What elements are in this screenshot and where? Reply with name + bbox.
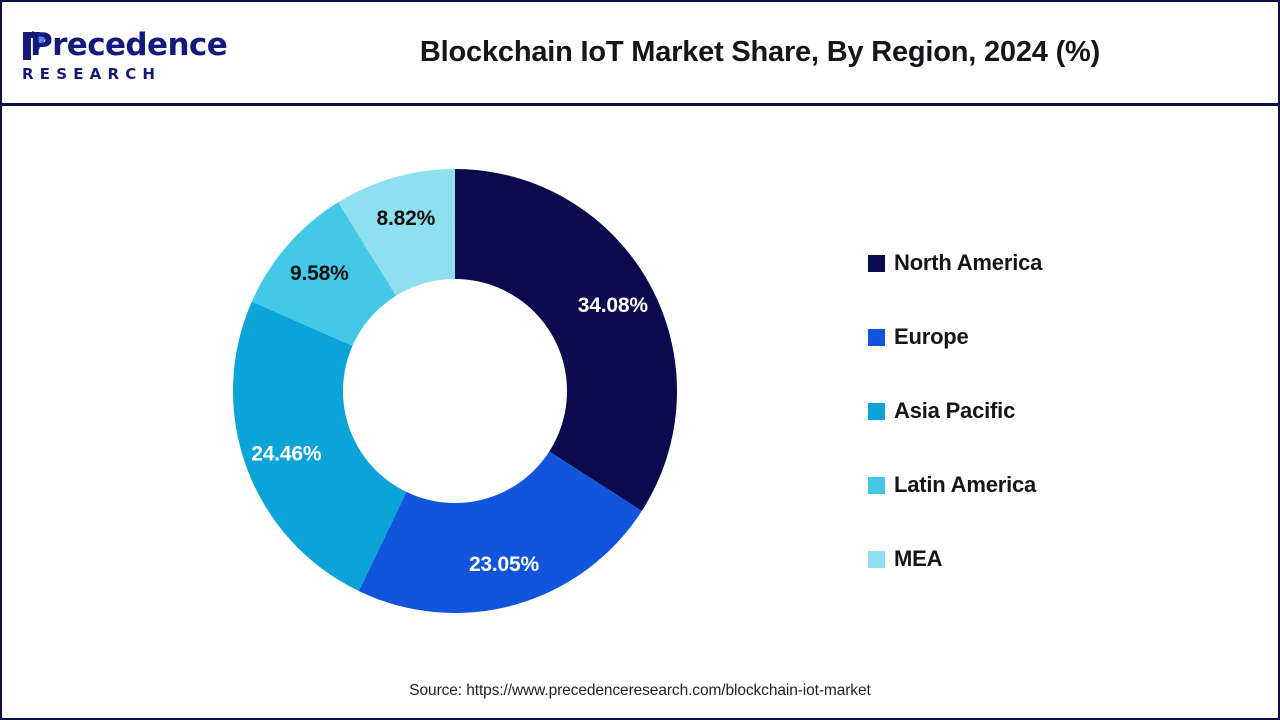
chart-body: 34.08%23.05%24.46%9.58%8.82% North Ameri… (2, 106, 1278, 718)
legend-item-label: Asia Pacific (894, 398, 1015, 424)
legend-item-label: North America (894, 250, 1042, 276)
donut-hole (343, 279, 567, 503)
legend-item[interactable]: Latin America (868, 448, 1168, 522)
legend-item-label: MEA (894, 546, 942, 572)
slice-value-label: 34.08% (578, 294, 649, 317)
legend-swatch-icon (868, 329, 885, 346)
chart-page: Precedence RESEARCH Blockchain IoT Marke… (0, 0, 1280, 720)
logo-subtitle: RESEARCH (16, 65, 226, 83)
logo-name: Precedence (30, 27, 227, 63)
page-title: Blockchain IoT Market Share, By Region, … (242, 2, 1278, 103)
legend-item[interactable]: Asia Pacific (868, 374, 1168, 448)
page-header: Precedence RESEARCH Blockchain IoT Marke… (2, 2, 1278, 106)
legend-item-label: Latin America (894, 472, 1036, 498)
slice-value-label: 8.82% (377, 207, 436, 230)
legend-swatch-icon (868, 403, 885, 420)
donut-chart: 34.08%23.05%24.46%9.58%8.82% (230, 166, 680, 616)
chart-legend: North AmericaEuropeAsia PacificLatin Ame… (868, 226, 1168, 596)
legend-item[interactable]: MEA (868, 522, 1168, 596)
source-note: Source: https://www.precedenceresearch.c… (2, 682, 1278, 700)
legend-item[interactable]: North America (868, 226, 1168, 300)
slice-value-label: 9.58% (290, 262, 349, 285)
legend-swatch-icon (868, 477, 885, 494)
slice-value-label: 23.05% (469, 553, 540, 576)
legend-swatch-icon (868, 551, 885, 568)
precedence-research-logo: Precedence RESEARCH (16, 24, 226, 86)
donut-chart-svg: 34.08%23.05%24.46%9.58%8.82% (230, 166, 680, 616)
legend-item-label: Europe (894, 324, 969, 350)
slice-value-label: 24.46% (251, 442, 322, 465)
legend-swatch-icon (868, 255, 885, 272)
legend-item[interactable]: Europe (868, 300, 1168, 374)
logo-wordmark-row: Precedence (16, 28, 226, 66)
